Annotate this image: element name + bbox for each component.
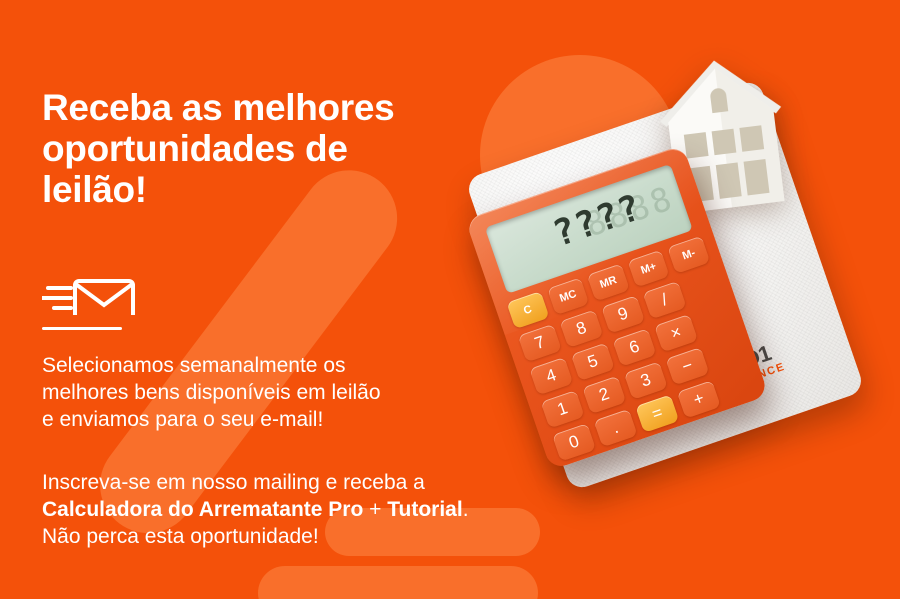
promo-banner: Receba as melhores oportunidades de leil…	[0, 0, 900, 599]
key-multiply[interactable]: ×	[654, 314, 698, 353]
key-m-minus[interactable]: M-	[668, 236, 711, 274]
key-0[interactable]: 0	[552, 423, 596, 462]
key-m-plus[interactable]: M+	[627, 250, 670, 288]
key-1[interactable]: 1	[541, 390, 585, 429]
key-plus[interactable]: +	[677, 380, 721, 419]
product-artwork: INVESTIMENTOS potencial de lucros 50% de…	[450, 0, 900, 599]
promo-product-name: Calculadora do Arrematante Pro	[42, 498, 363, 521]
promo-plus: +	[363, 498, 387, 521]
key-7[interactable]: 7	[518, 324, 562, 363]
key-6[interactable]: 6	[612, 328, 656, 367]
key-5[interactable]: 5	[571, 343, 615, 382]
key-minus[interactable]: −	[665, 347, 709, 386]
promo-line-1: Inscreva-se em nosso mailing e receba a	[42, 469, 512, 496]
promo-line-3: Não perca esta oportunidade!	[42, 523, 512, 550]
icon-divider	[42, 327, 122, 330]
key-mr[interactable]: MR	[587, 263, 630, 301]
copy-column: Receba as melhores oportunidades de leil…	[42, 0, 512, 550]
key-clear[interactable]: C	[506, 291, 549, 329]
key-divide[interactable]: /	[643, 281, 687, 320]
page-title: Receba as melhores oportunidades de leil…	[42, 87, 512, 210]
key-9[interactable]: 9	[601, 295, 645, 334]
display-value: ????	[548, 187, 647, 255]
envelope-send-icon	[42, 275, 154, 320]
body-copy: Selecionamos semanalmente os melhores be…	[42, 352, 512, 433]
promo-copy: Inscreva-se em nosso mailing e receba a …	[42, 469, 512, 550]
key-3[interactable]: 3	[624, 361, 668, 400]
key-mc[interactable]: MC	[547, 277, 590, 315]
promo-line-2: Calculadora do Arrematante Pro + Tutoria…	[42, 496, 512, 523]
key-8[interactable]: 8	[559, 309, 603, 348]
key-2[interactable]: 2	[582, 376, 626, 415]
key-equals[interactable]: =	[635, 394, 679, 433]
key-4[interactable]: 4	[529, 357, 573, 396]
key-decimal[interactable]: .	[594, 409, 638, 448]
